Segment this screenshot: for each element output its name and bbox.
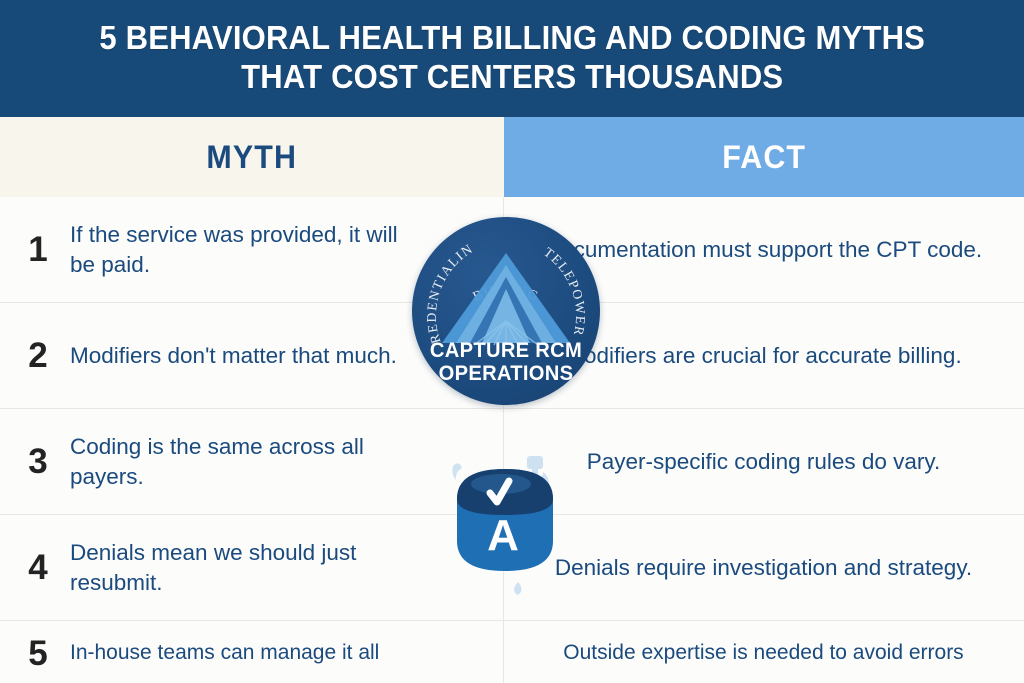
myth-cell: 5 In-house teams can manage it all [0, 621, 504, 683]
row-number: 5 [18, 636, 58, 671]
fact-text: Documentation must support the CPT code. [530, 235, 997, 265]
fact-cell: Denials require investigation and strate… [504, 515, 1023, 620]
fact-text: Modifiers are crucial for accurate billi… [530, 341, 997, 371]
myth-text: Coding is the same across all payers. [58, 432, 400, 492]
myth-cell: 4 Denials mean we should just resubmit. [0, 515, 504, 620]
myth-text: If the service was provided, it will be … [58, 220, 400, 280]
mountain-peak-icon [438, 251, 574, 347]
row-number: 3 [18, 444, 58, 479]
row-number: 4 [18, 550, 58, 585]
column-header-fact-label: FACT [722, 139, 806, 176]
column-header-row: MYTH FACT [0, 117, 1024, 197]
myth-text: In-house teams can manage it all [58, 640, 379, 666]
header-banner: 5 BEHAVIORAL HEALTH BILLING AND CODING M… [0, 0, 1024, 117]
badge-brand-name: CAPTURE RCM OPERATIONS [416, 339, 596, 385]
capture-rcm-badge-logo: BILLING CREDENTIALING TELEPOWER [412, 217, 600, 405]
fact-cell: Outside expertise is needed to avoid err… [504, 621, 1023, 683]
column-header-myth-label: MYTH [207, 139, 298, 176]
row-number: 1 [18, 232, 58, 267]
fact-text: Denials require investigation and strate… [530, 553, 997, 583]
analytics-blob-icon: A [443, 444, 567, 604]
myth-text: Modifiers don't matter that much. [58, 341, 397, 371]
column-header-fact: FACT [504, 117, 1024, 197]
infographic-canvas: 5 BEHAVIORAL HEALTH BILLING AND CODING M… [0, 0, 1024, 683]
fact-text: Payer-specific coding rules do vary. [530, 447, 997, 477]
blob-letter: A [487, 511, 519, 560]
myth-cell: 3 Coding is the same across all payers. [0, 409, 504, 514]
myth-text: Denials mean we should just resubmit. [58, 538, 400, 598]
fact-text: Outside expertise is needed to avoid err… [530, 640, 997, 666]
fact-cell: Payer-specific coding rules do vary. [504, 409, 1023, 514]
column-header-myth: MYTH [0, 117, 504, 197]
row-number: 2 [18, 338, 58, 373]
page-title: 5 BEHAVIORAL HEALTH BILLING AND CODING M… [99, 18, 925, 96]
table-row: 5 In-house teams can manage it all Outsi… [0, 621, 1024, 683]
